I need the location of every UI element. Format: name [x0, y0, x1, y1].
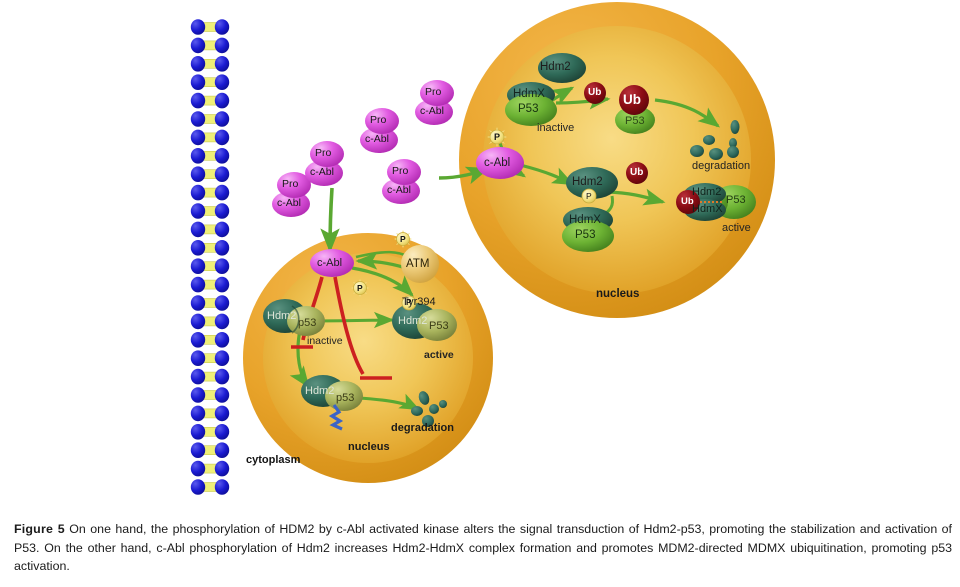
- right-cabl-node: [476, 147, 524, 179]
- membrane-head: [191, 424, 205, 440]
- membrane-head: [191, 240, 205, 256]
- membrane-head: [215, 185, 229, 201]
- membrane-head: [191, 19, 205, 35]
- membrane-head: [191, 56, 205, 72]
- membrane-head: [215, 240, 229, 256]
- right-active-complex: [676, 183, 756, 221]
- membrane-head: [191, 314, 205, 330]
- ligand-pro-cabl-4: [382, 159, 421, 204]
- arrow-inactive-to-active: [315, 320, 392, 321]
- membrane-head: [215, 56, 229, 72]
- membrane-head: [191, 111, 205, 127]
- membrane-head: [215, 148, 229, 164]
- membrane-head: [191, 295, 205, 311]
- membrane-head: [215, 295, 229, 311]
- right-free-ub-top: [584, 82, 606, 104]
- ligand-pro-lobe: [310, 141, 344, 167]
- membrane-head: [191, 387, 205, 403]
- ligand-pro-cabl-2: [305, 141, 344, 186]
- membrane-head: [215, 258, 229, 274]
- membrane-head: [191, 258, 205, 274]
- membrane-head: [215, 203, 229, 219]
- membrane-head: [191, 369, 205, 385]
- membrane-head: [191, 332, 205, 348]
- membrane-head: [191, 406, 205, 422]
- membrane-head: [215, 93, 229, 109]
- left-nucleus: [243, 188, 493, 483]
- membrane-head: [191, 277, 205, 293]
- membrane-head: [215, 38, 229, 54]
- ligand-pro-cabl-1: [272, 172, 311, 217]
- left-cabl-node: [310, 249, 354, 277]
- membrane-head: [215, 406, 229, 422]
- membrane-head: [215, 479, 229, 495]
- membrane-head: [191, 442, 205, 458]
- right-free-hdm2: [538, 53, 586, 83]
- right-free-ub-bottom: [626, 162, 648, 184]
- membrane-head: [215, 314, 229, 330]
- ligand-pro-lobe: [420, 80, 454, 106]
- right-inactive-complex: [505, 82, 557, 126]
- ligand-pro-lobe: [387, 159, 421, 185]
- arrow-ligand-into-nucleus: [330, 188, 332, 250]
- caption-text: On one hand, the phosphorylation of HDM2…: [14, 522, 952, 573]
- membrane-head: [191, 479, 205, 495]
- pathway-diagram: [0, 0, 960, 505]
- ligand-pro-cabl-5: [415, 80, 454, 125]
- membrane-head: [191, 166, 205, 182]
- ligand-pro-lobe: [365, 108, 399, 134]
- membrane-head: [215, 350, 229, 366]
- membrane-head: [191, 148, 205, 164]
- caption-figure-label: Figure 5: [14, 522, 65, 536]
- membrane-head: [191, 38, 205, 54]
- membrane-head: [191, 74, 205, 90]
- right-nucleus: [439, 2, 775, 318]
- left-atm-node: [401, 245, 439, 283]
- membrane-head: [215, 461, 229, 477]
- membrane-head: [215, 442, 229, 458]
- membrane-head: [215, 369, 229, 385]
- membrane-head: [191, 130, 205, 146]
- ligand-pro-cabl-3: [360, 108, 399, 153]
- figure-panel: cytoplasm Hdm2 HdmX P53 inactive Ub Ub P…: [0, 0, 960, 505]
- plasma-membrane: [191, 19, 229, 495]
- membrane-head: [215, 166, 229, 182]
- membrane-head: [191, 203, 205, 219]
- membrane-head: [191, 93, 205, 109]
- membrane-head: [215, 222, 229, 238]
- ligand-layer: [272, 80, 454, 217]
- membrane-head: [215, 19, 229, 35]
- membrane-head: [191, 461, 205, 477]
- figure-caption: Figure 5 On one hand, the phosphorylatio…: [14, 520, 952, 576]
- membrane-head: [215, 277, 229, 293]
- membrane-head: [215, 387, 229, 403]
- membrane-head: [215, 74, 229, 90]
- membrane-head: [191, 185, 205, 201]
- membrane-head: [191, 350, 205, 366]
- membrane-head: [215, 130, 229, 146]
- membrane-head: [215, 424, 229, 440]
- right-free-hdmx-p53: [562, 207, 614, 252]
- membrane-head: [215, 111, 229, 127]
- membrane-head: [191, 222, 205, 238]
- membrane-head: [215, 332, 229, 348]
